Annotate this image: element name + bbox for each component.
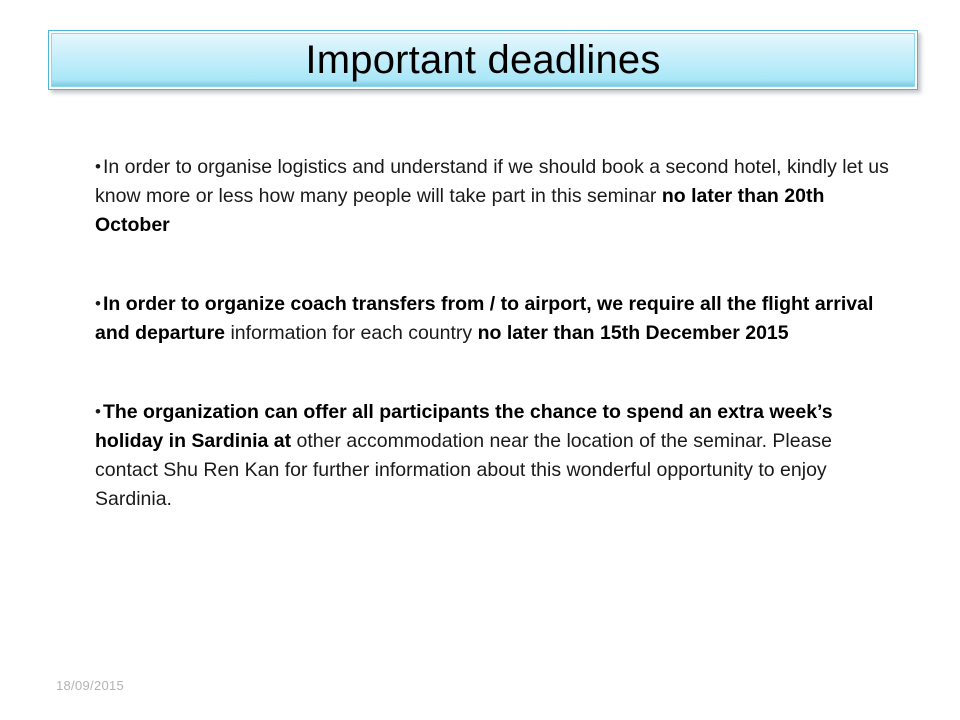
footer-date: 18/09/2015 [56, 678, 124, 693]
bullet-icon: • [95, 157, 103, 176]
text-run-bold: no later than 15th December 2015 [478, 322, 789, 344]
bullet-paragraph: •In order to organise logistics and unde… [95, 152, 890, 240]
page-title: Important deadlines [305, 40, 660, 80]
slide-canvas: Important deadlines •In order to organis… [0, 0, 960, 720]
bullet-icon: • [95, 402, 103, 421]
text-run-regular: information for each country [230, 322, 477, 344]
bullet-paragraph: •In order to organize coach transfers fr… [95, 289, 890, 348]
title-box-fill: Important deadlines [51, 33, 915, 87]
title-placeholder[interactable]: Important deadlines [48, 30, 918, 90]
bullet-paragraph: •The organization can offer all particip… [95, 397, 890, 514]
bullet-icon: • [95, 294, 103, 313]
body-placeholder[interactable]: •In order to organise logistics and unde… [95, 152, 890, 514]
